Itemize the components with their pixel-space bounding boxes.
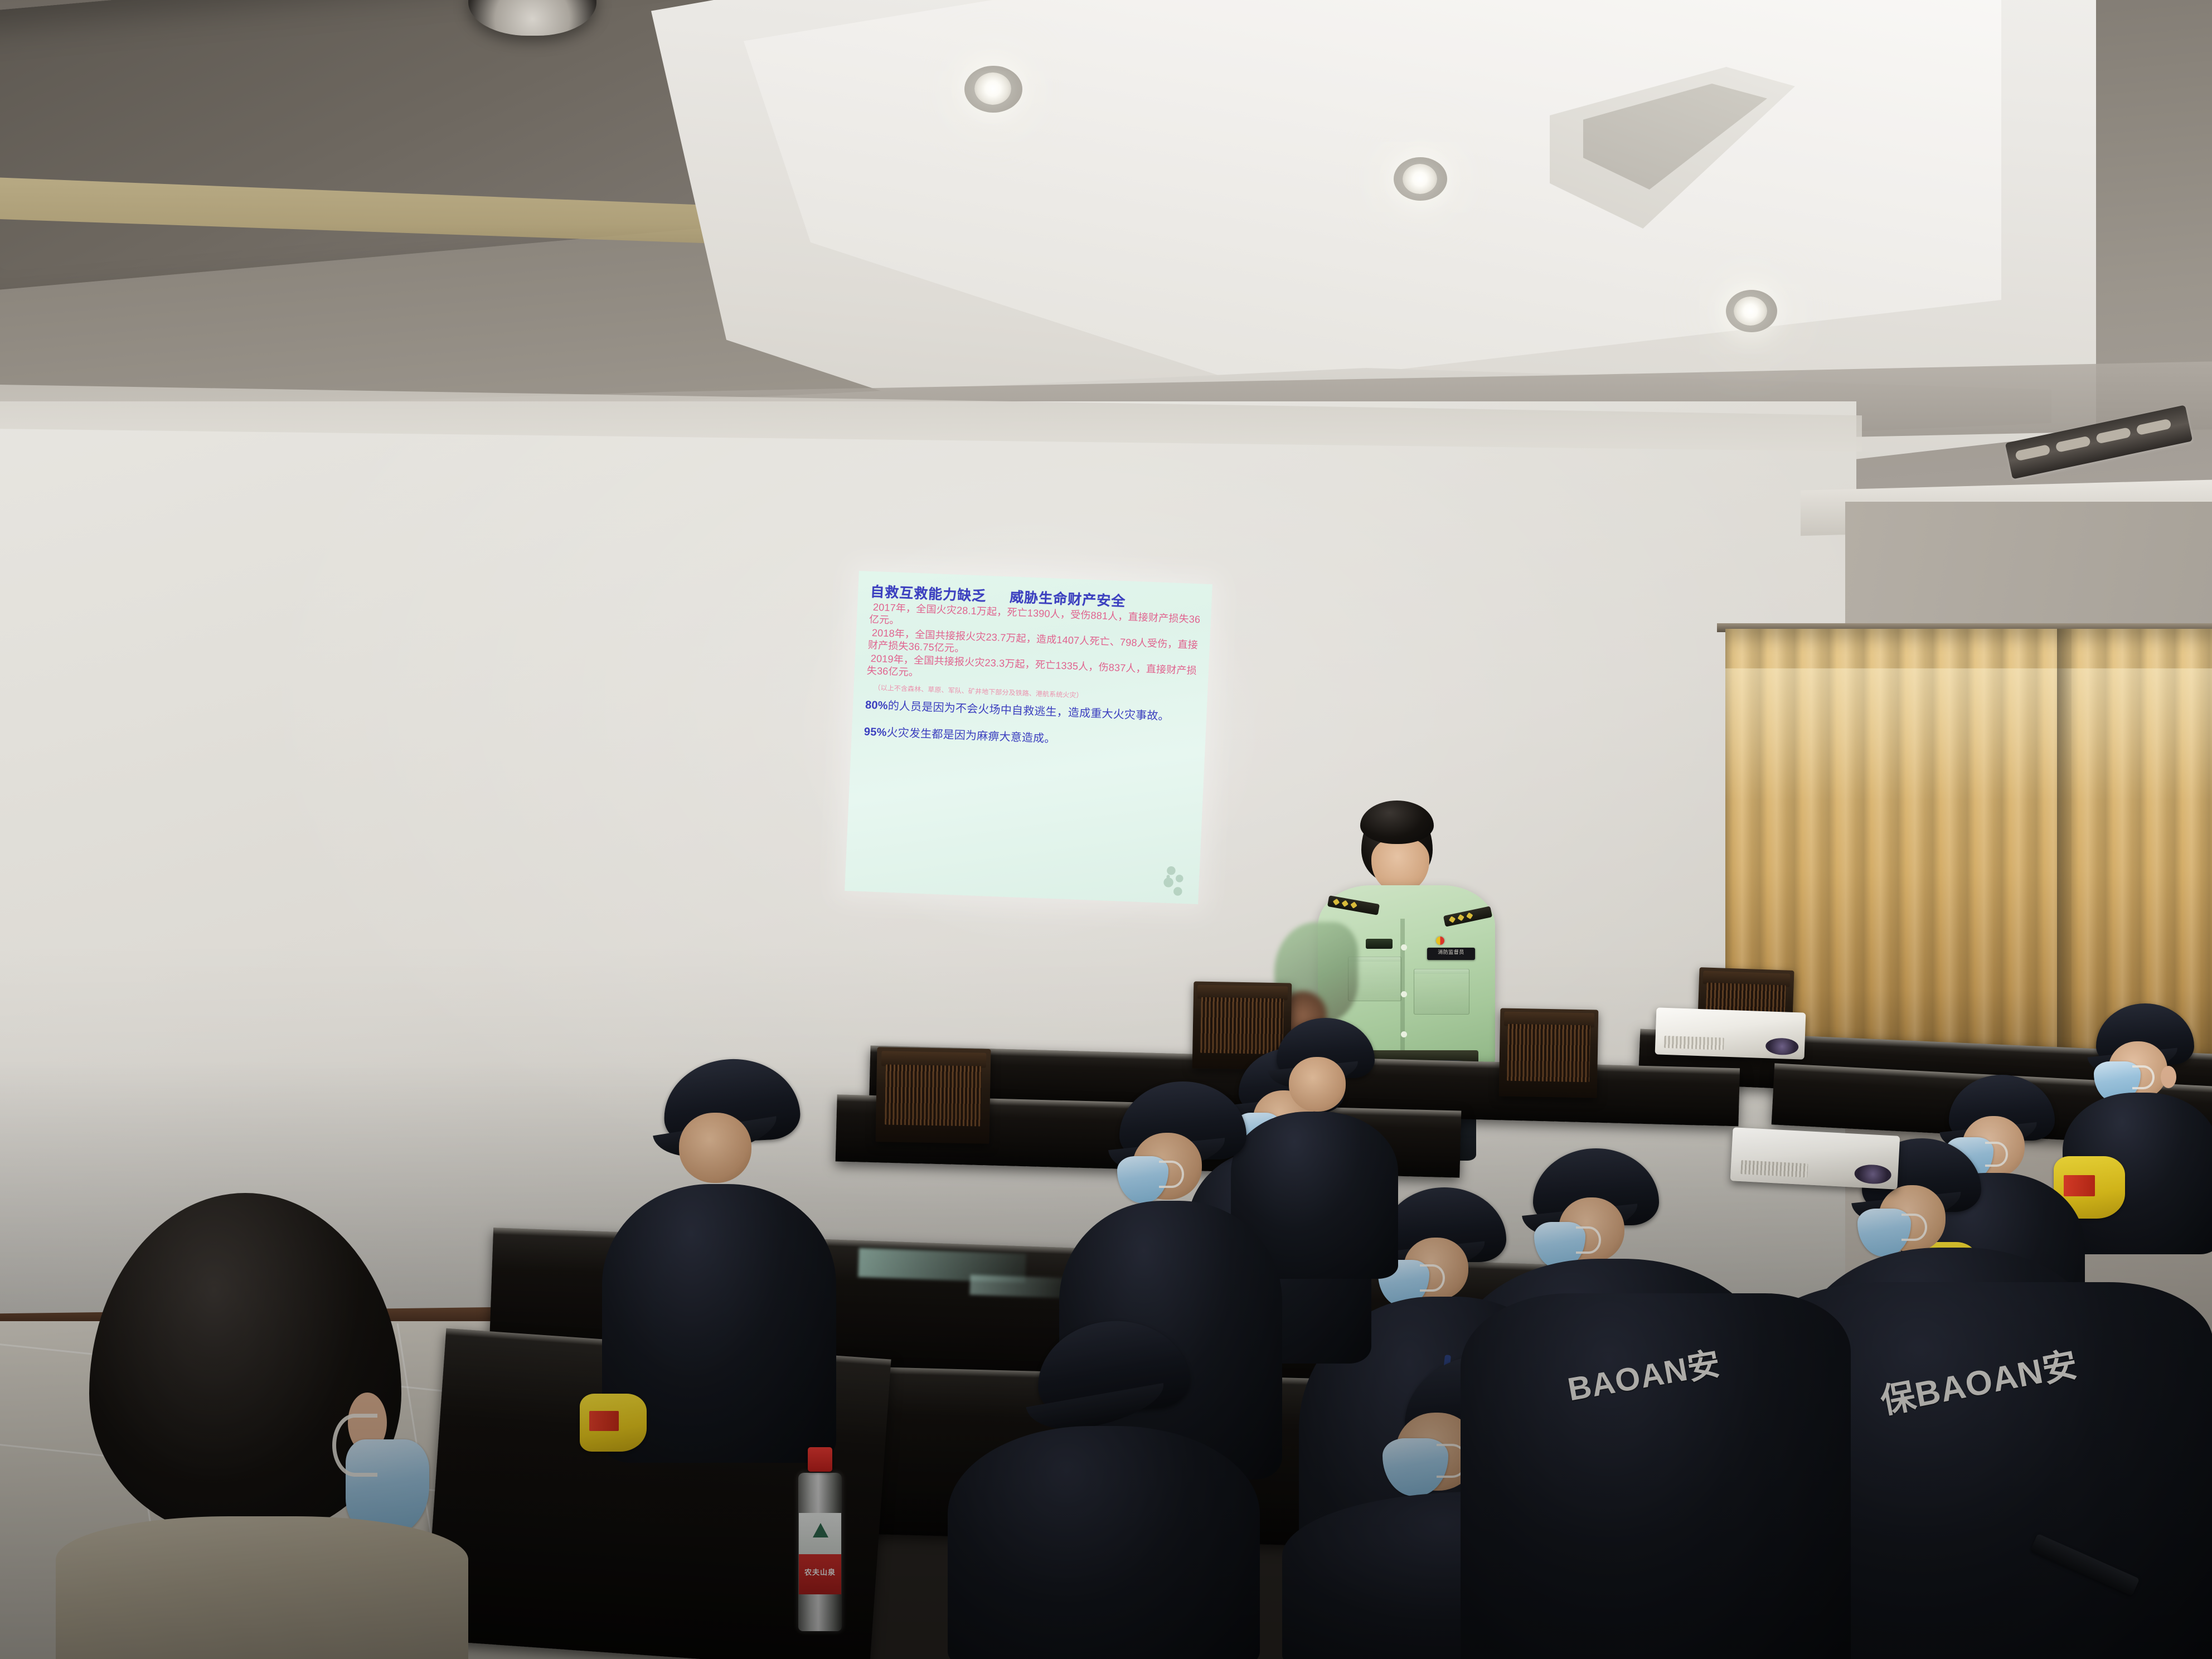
audience-cap-lower-left	[1034, 1316, 1192, 1417]
instructor-flag-pin-icon	[1436, 937, 1444, 945]
foreground-sweater	[56, 1516, 468, 1659]
slide-highlight-80-pct: 80%	[865, 699, 889, 712]
instructor-face	[1371, 837, 1429, 893]
audience-member-left-front[interactable]	[602, 1059, 836, 1461]
slide-watermark-icon	[1157, 864, 1191, 899]
curtain-highlight	[1725, 668, 2212, 801]
audience-ear-far-right	[2161, 1066, 2176, 1088]
slide-title-left: 自救互救能力缺乏	[870, 584, 987, 604]
conference-room-scene: 自救互救能力缺乏 威胁生命财产安全 2017年，全国火灾28.1万起，死亡139…	[0, 0, 2212, 1659]
bottle-cap	[808, 1447, 832, 1472]
bottle-brand-text: 农夫山泉	[799, 1566, 841, 1577]
projected-slide: 自救互救能力缺乏 威胁生命财产安全 2017年，全国火灾28.1万起，死亡139…	[845, 571, 1212, 904]
instructor-pocket-right	[1414, 969, 1469, 1015]
chair-row-3-a[interactable]	[876, 1047, 991, 1144]
chair-row-2-b[interactable]	[1499, 1008, 1599, 1098]
instructor-button-3	[1401, 1031, 1407, 1037]
audience-member-bottom-center[interactable]: BAOAN安	[1461, 1293, 1851, 1659]
instructor-hair	[1360, 801, 1434, 844]
instructor-epaulette-left	[1327, 895, 1380, 915]
instructor-button-1	[1401, 944, 1407, 950]
downlight-2	[1403, 164, 1437, 194]
slide-highlight-80-text: 的人员是因为不会火场中自救逃生，造成重大火灾事故。	[887, 700, 1170, 722]
audience-face-behind	[1289, 1057, 1346, 1112]
audience-member-lower-left[interactable]	[948, 1321, 1260, 1659]
slide-highlight-95-pct: 95%	[864, 726, 887, 739]
slide-highlight-95: 95%火灾发生都是因为麻痹大意造成。	[864, 725, 1195, 751]
instructor-nametag: 消防监督员	[1427, 948, 1475, 960]
slide-highlight-95-text: 火灾发生都是因为麻痹大意造成。	[886, 726, 1056, 745]
downlight-1	[974, 72, 1011, 105]
audience-torso-lower-left	[948, 1426, 1260, 1659]
instructor-wing-badge-icon	[1366, 939, 1393, 949]
instructor-button-2	[1401, 991, 1407, 997]
projector-back[interactable]	[1655, 1007, 1806, 1059]
audience-member-foreground[interactable]	[56, 1182, 468, 1659]
downlight-3	[1734, 297, 1767, 326]
slide-title-right: 威胁生命财产安全	[1010, 589, 1126, 609]
audience-armband-left-front	[580, 1394, 647, 1452]
water-bottle[interactable]: 农夫山泉	[798, 1447, 842, 1631]
bottle-mountain-icon	[813, 1523, 828, 1537]
bottle-label-lower: 农夫山泉	[799, 1554, 841, 1594]
instructor-epaulette-right	[1443, 906, 1492, 926]
instructor-nametag-text: 消防监督员	[1427, 948, 1475, 957]
projector-front[interactable]	[1730, 1127, 1900, 1190]
audience-face-left-front	[679, 1113, 751, 1183]
